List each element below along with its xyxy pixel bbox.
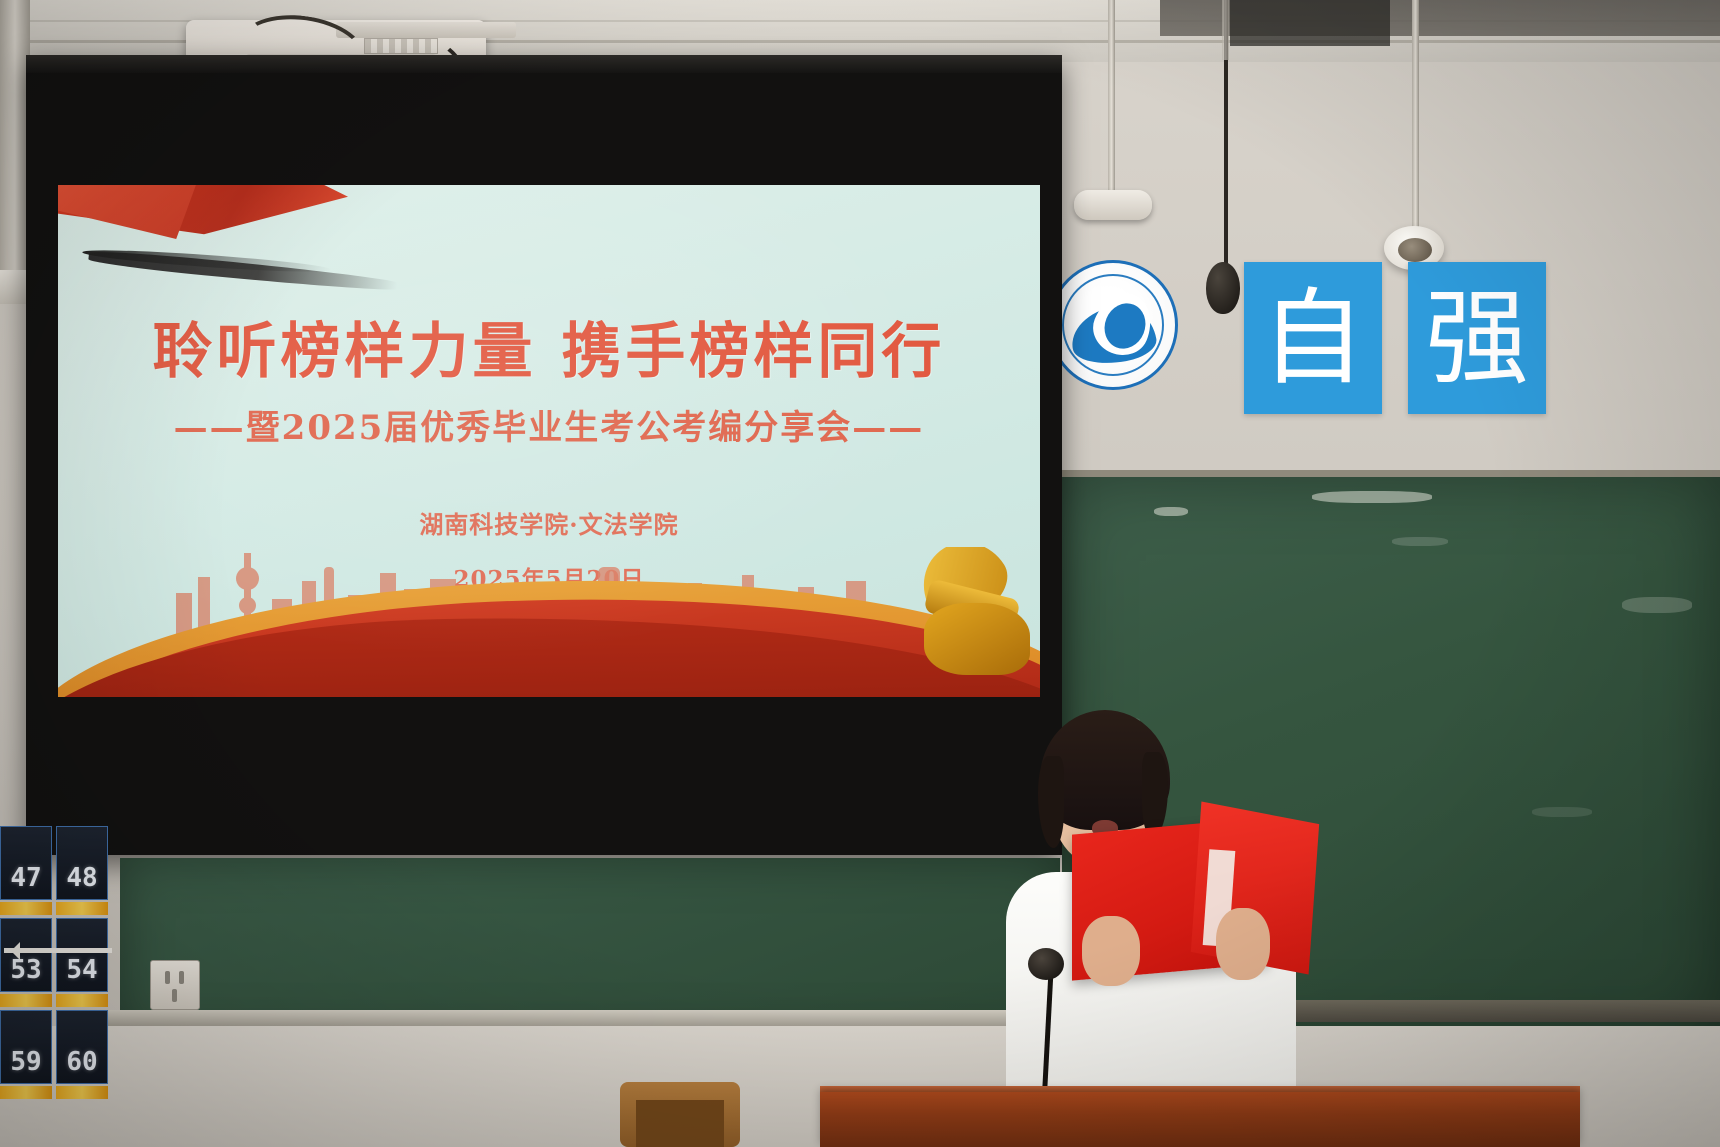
seat-number: 60	[56, 1010, 108, 1084]
ceiling-rod	[1222, 0, 1229, 60]
wooden-podium	[820, 1092, 1580, 1147]
student-speaker	[1000, 700, 1300, 1147]
chalk-mark	[1154, 507, 1188, 516]
slide-subtitle: ——暨2025届优秀毕业生考公考编分享会——	[58, 400, 1040, 449]
pendant-rod	[1412, 0, 1419, 232]
wall-sign-zi-text: 自	[1261, 286, 1365, 390]
projection-screen-top-bar	[26, 55, 1062, 73]
wall-sign-qiang-text: 强	[1425, 286, 1529, 390]
lamp-rod-left	[1108, 0, 1115, 196]
presentation-slide: 聆听榜样力量 携手榜样同行 ——暨2025届优秀毕业生考公考编分享会—— 湖南科…	[58, 185, 1040, 697]
wall-sign-qiang: 强	[1408, 262, 1546, 414]
pendant-lamp-core	[1398, 238, 1432, 262]
chalk-mark	[1532, 807, 1592, 817]
chalk-mark	[1312, 491, 1432, 503]
hanging-microphone	[1206, 262, 1240, 314]
university-emblem	[1048, 260, 1178, 390]
seat-number: 59	[0, 1010, 52, 1084]
speaker-hair-right	[1142, 752, 1168, 838]
wooden-chair-seat	[636, 1100, 724, 1147]
slide-trumpet-icon	[880, 547, 1030, 675]
chalk-mark	[1392, 537, 1448, 546]
seat-strip	[56, 902, 108, 915]
wall-sign-zi: 自	[1244, 262, 1382, 414]
blackboard-left-ledge	[100, 1010, 1080, 1026]
chalk-mark	[1622, 597, 1692, 613]
seat-strip	[56, 1086, 108, 1099]
seat-strip	[0, 902, 52, 915]
speaker-hand-left	[1082, 916, 1140, 986]
seat-number-grid: 47 48 53 54 59 60	[0, 826, 112, 1147]
seat-number: 48	[56, 826, 108, 900]
ceiling-panel-dark	[1230, 0, 1390, 46]
seat-number: 47	[0, 826, 52, 900]
seat-strip	[0, 994, 52, 1007]
seat-strip	[0, 1086, 52, 1099]
slide-bottom-band	[58, 547, 1040, 697]
speaker-hair-left	[1038, 756, 1064, 848]
screen-edge-pointer	[4, 948, 112, 953]
podium-microphone	[1028, 948, 1064, 980]
seat-number: 54	[56, 918, 108, 992]
classroom-photo: 自 强 聆听榜样力量 携手榜样同行 ——暨2025届优秀毕业生考公考编分享会——…	[0, 0, 1720, 1147]
speaker-hand-right	[1216, 908, 1270, 980]
wall-outlet[interactable]	[150, 960, 200, 1010]
slide-title: 聆听榜样力量 携手榜样同行	[58, 303, 1040, 390]
hanging-lamp	[1074, 190, 1152, 220]
slide-organization: 湖南科技学院·文法学院	[58, 505, 1040, 540]
seat-strip	[56, 994, 108, 1007]
